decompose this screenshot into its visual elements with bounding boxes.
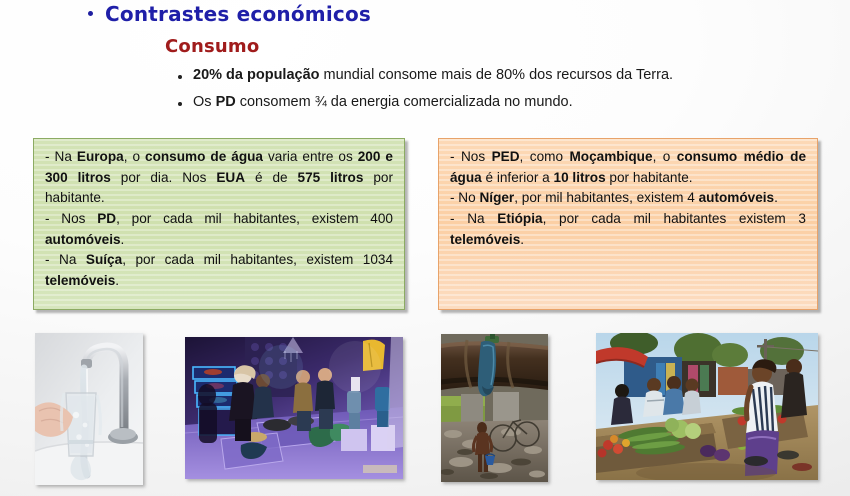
street-market-photo bbox=[596, 333, 818, 480]
slide-canvas: Contrastes económicos Consumo 20% da pop… bbox=[0, 0, 850, 496]
bullet-text: Os PD consomem ¾ da energia comercializa… bbox=[193, 93, 573, 113]
bullet-text: 20% da população mundial consome mais de… bbox=[193, 66, 673, 86]
box-paragraph: - Nos PD, por cada mil habitantes, exist… bbox=[45, 209, 393, 250]
list-item: 20% da população mundial consome mais de… bbox=[178, 66, 828, 86]
section-subtitle: Consumo bbox=[165, 36, 259, 57]
box-paragraph: - No Níger, por mil habitantes, existem … bbox=[450, 188, 806, 209]
title-bullet-icon bbox=[88, 11, 93, 16]
clothing-store-photo bbox=[185, 337, 403, 479]
faucet-glass-illustration bbox=[35, 333, 143, 485]
page-title: Contrastes económicos bbox=[105, 2, 371, 26]
slide-title-row: Contrastes económicos bbox=[88, 2, 371, 26]
bullet-list: 20% da população mundial consome mais de… bbox=[178, 66, 828, 119]
water-pipe-illustration bbox=[441, 334, 548, 482]
list-item: Os PD consomem ¾ da energia comercializa… bbox=[178, 93, 828, 113]
bullet-dot-icon bbox=[178, 75, 182, 79]
clothing-store-illustration bbox=[185, 337, 403, 479]
faucet-glass-photo bbox=[35, 333, 143, 485]
box-paragraph: - Na Suíça, por cada mil habitantes, exi… bbox=[45, 250, 393, 291]
street-market-illustration bbox=[596, 333, 818, 480]
box-paragraph: - Na Etiópia, por cada mil habitantes ex… bbox=[450, 209, 806, 250]
water-pipe-photo bbox=[441, 334, 548, 482]
info-box-developed-countries: - Na Europa, o consumo de água varia ent… bbox=[33, 138, 405, 310]
box-paragraph: - Na Europa, o consumo de água varia ent… bbox=[45, 147, 393, 209]
box-paragraph: - Nos PED, como Moçambique, o consumo mé… bbox=[450, 147, 806, 188]
info-box-developing-countries: - Nos PED, como Moçambique, o consumo mé… bbox=[438, 138, 818, 310]
bullet-dot-icon bbox=[178, 102, 182, 106]
